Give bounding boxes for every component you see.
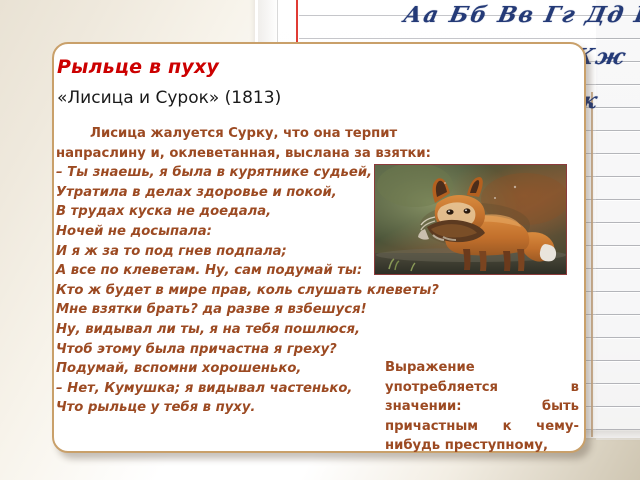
fable-line: – Ты знаешь, я была в курятнике судьей,	[56, 163, 456, 183]
meaning-text: Выражение употребляется в значении: быть…	[385, 360, 579, 453]
fable-line: Чтоб этому была причастна я греху?	[56, 340, 456, 360]
secondary-margin-rule	[591, 92, 593, 437]
fable-line: А все по клеветам. Ну, сам подумай ты:	[56, 261, 456, 281]
fable-line: В трудах куска не доедала,	[56, 202, 456, 222]
page-subtitle: «Лисица и Сурок» (1813)	[57, 88, 281, 108]
fable-line: И я ж за то под гнев подпала;	[56, 242, 456, 262]
meaning-text-block: Выражение употребляется в значении: быть…	[385, 358, 579, 456]
fable-line: Лисица жалуется Сурку, что она терпит на…	[56, 124, 456, 163]
calligraphy-line-1: Аа Бб Вв Гг Дд Ее	[401, 2, 640, 28]
fable-line: Утратила в делах здоровье и покой,	[56, 183, 456, 203]
page-title: Рыльце в пуху	[57, 56, 219, 78]
slide-canvas: Аа Бб Вв Гг Дд Ее Жж Кк	[0, 0, 640, 480]
fable-line: Ну, видывал ли ты, я на тебя пошлюся,	[56, 320, 456, 340]
fable-line: Кто ж будет в мире прав, коль слушать кл…	[56, 281, 456, 301]
fable-line: Ночей не досыпала:	[56, 222, 456, 242]
fable-line: Мне взятки брать? да разве я взбешуся!	[56, 300, 456, 320]
